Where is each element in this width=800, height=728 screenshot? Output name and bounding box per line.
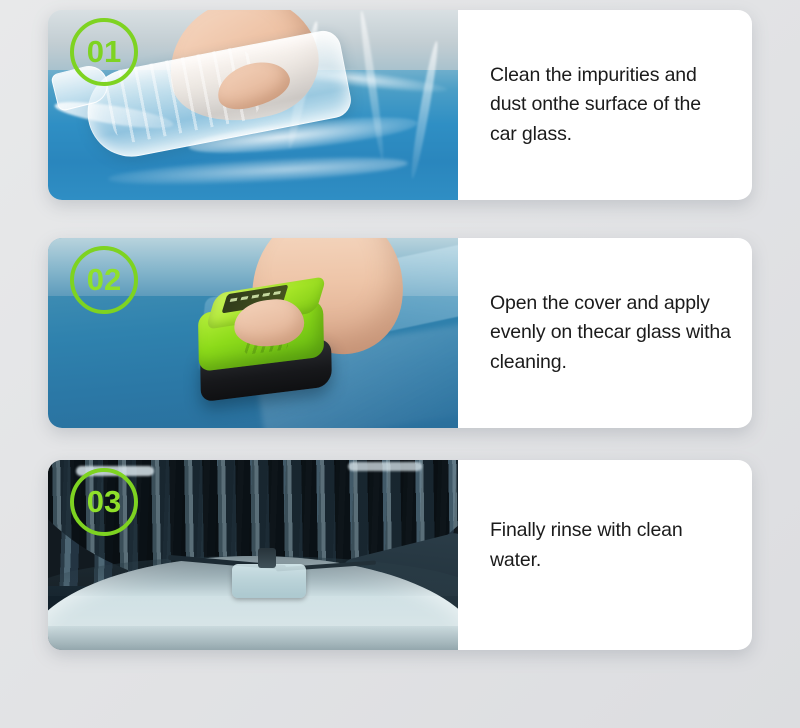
applicator-on-glass — [232, 564, 306, 598]
step-card-1: 01 Clean the impurities and dust onthe s… — [48, 10, 752, 200]
step-1-description: Clean the impurities and dust onthe surf… — [490, 61, 732, 150]
instruction-page: 01 Clean the impurities and dust onthe s… — [0, 0, 800, 728]
step-card-3: 03 Finally rinse with clean water. — [48, 460, 752, 650]
step-badge-1: 01 — [70, 18, 138, 86]
step-number-3: 03 — [87, 486, 121, 517]
step-badge-2: 02 — [70, 246, 138, 314]
step-1-photo: 01 — [48, 10, 458, 200]
step-2-text-pane: Open the cover and apply evenly on theca… — [458, 238, 752, 428]
ceiling-light-icon — [348, 462, 422, 471]
step-3-text-pane: Finally rinse with clean water. — [458, 460, 752, 650]
step-2-photo: 02 — [48, 238, 458, 428]
step-3-photo: 03 — [48, 460, 458, 650]
step-1-text-pane: Clean the impurities and dust onthe surf… — [458, 10, 752, 200]
photo-3-foreground — [48, 626, 458, 650]
step-number-2: 02 — [87, 264, 121, 295]
step-number-1: 01 — [87, 36, 121, 67]
step-2-description: Open the cover and apply evenly on theca… — [490, 289, 732, 378]
step-3-description: Finally rinse with clean water. — [490, 516, 732, 575]
step-card-2: 02 Open the cover and apply evenly on th… — [48, 238, 752, 428]
step-badge-3: 03 — [70, 468, 138, 536]
